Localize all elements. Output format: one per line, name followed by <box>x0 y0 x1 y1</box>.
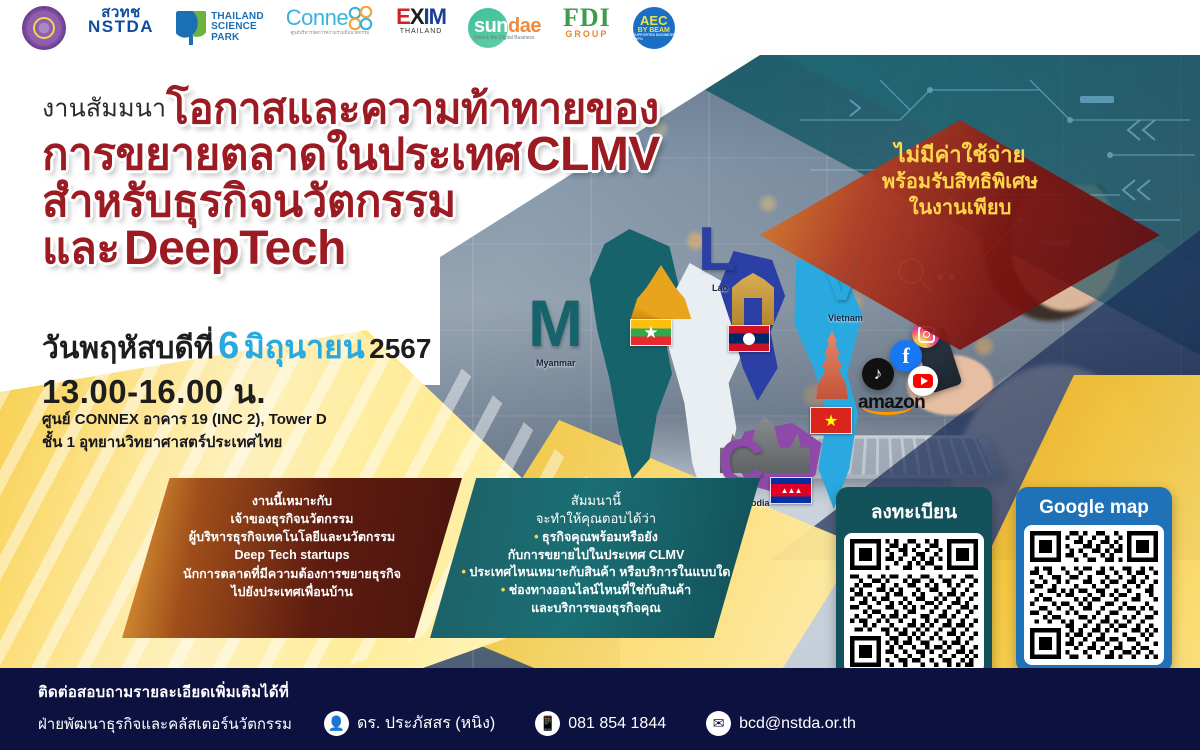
vietnam-flag-icon <box>810 407 852 434</box>
footer-heading: ติดต่อสอบถามรายละเอียดเพิ่มเติมได้ที่ <box>38 680 1200 704</box>
headline-prefix: งานสัมมนา <box>42 95 166 123</box>
amazon-logo: amazon <box>858 392 925 414</box>
exim-e: E <box>396 4 410 29</box>
google-map-qr-card[interactable]: Google map <box>1016 487 1172 673</box>
contact-person: 👤 ดร. ประภัสสร (หนิง) <box>324 711 495 736</box>
country-letter-m: M <box>528 297 583 350</box>
sundae-word1: sun <box>474 15 508 37</box>
exim-x: X <box>410 4 424 29</box>
headline-line2: การขยายตลาดในประเทศ <box>42 130 521 179</box>
country-label-lao: Lao <box>712 283 728 293</box>
date-year: 2567 <box>369 333 431 364</box>
bullet-dot-3: • <box>501 583 505 597</box>
nstda-logo: สวทช NSTDA <box>88 6 154 50</box>
sundae-subtitle: Unlock the Digital Business <box>474 35 541 41</box>
cambodia-flag-icon <box>770 477 812 504</box>
connex-word: Conne <box>286 7 348 29</box>
date-day-number: 6 <box>218 325 239 367</box>
bullet-dot-1: • <box>534 530 538 544</box>
tsp-line3: PARK <box>211 33 264 43</box>
takeaway-1: ธุรกิจคุณพร้อมหรือยัง <box>542 530 658 544</box>
person-icon: 👤 <box>324 711 349 736</box>
target-audience-panel: งานนี้เหมาะกับ เจ้าของธุรกิจนวัตกรรม ผู้… <box>122 492 462 601</box>
headline-deeptech: DeepTech <box>124 222 346 275</box>
nstda-english-text: NSTDA <box>88 19 154 35</box>
myanmar-flag-icon <box>630 319 672 346</box>
footer-department: ฝ่ายพัฒนาธุรกิจและคลัสเตอร์นวัตกรรม <box>38 712 292 736</box>
fdi-word: FDI <box>563 6 611 29</box>
audience-line-1: งานนี้เหมาะกับ <box>122 492 462 510</box>
contact-email[interactable]: ✉ bcd@nstda.or.th <box>706 711 856 736</box>
takeaway-3: ช่องทางออนไลน์ไหนที่ใช่กับสินค้า <box>509 583 691 597</box>
partner-logo-bar: สวทช NSTDA THAILAND SCIENCE PARK Conne <box>0 0 1200 55</box>
venue-line-1: ศูนย์ CONNEX อาคาร 19 (INC 2), Tower D <box>42 408 327 431</box>
google-map-qr-box <box>1024 525 1164 665</box>
audience-line-3: ผู้บริหารธุรกิจเทคโนโลยีและนวัตกรรม <box>122 528 462 546</box>
free-badge-line2: พร้อมรับสิทธิพิเศษ <box>760 169 1160 195</box>
connex-circles-icon <box>348 6 374 30</box>
contact-phone[interactable]: 📱 081 854 1844 <box>535 711 666 736</box>
sundae-word2: dae <box>508 15 541 37</box>
tree-icon <box>176 11 206 45</box>
takeaways-panel: สัมมนานี้ จะทำให้คุณตอบได้ว่า • ธุรกิจคุ… <box>418 492 774 618</box>
aec-subtitle: SUPPORTED BUSINESS EXPO <box>633 34 675 41</box>
connex-logo: Conne ศูนย์บริหารจัดการความร่วมมือนวัตกร… <box>286 6 374 50</box>
takeaway-2: ประเทศไหนเหมาะกับสินค้า หรือบริการในแบบใ… <box>469 565 730 579</box>
headline-line4-thai: และ <box>42 224 119 273</box>
audience-line-6: ไปยังประเทศเพื่อนบ้าน <box>122 583 462 601</box>
google-map-qr-title: Google map <box>1024 497 1164 519</box>
takeaway-3b: และบริการของธุรกิจคุณ <box>531 601 661 615</box>
country-letter-l: L <box>698 225 736 275</box>
aec-by-beam-logo: AEC BY BEAM SUPPORTED BUSINESS EXPO <box>633 6 675 50</box>
free-badge-line1: ไม่มีค่าใช้จ่าย <box>760 140 1160 169</box>
register-qr-box <box>844 533 984 673</box>
fdi-group-logo: FDI GROUP <box>563 6 611 50</box>
headline-line3: สำหรับธุรกิจนวัตกรรม <box>42 177 456 226</box>
envelope-icon: ✉ <box>706 711 731 736</box>
exim-thailand-logo: EXIM THAILAND <box>396 6 446 50</box>
connex-subtitle: ศูนย์บริหารจัดการความร่วมมือนวัตกรรม <box>291 30 370 35</box>
takeaway-1b: กับการขยายไปในประเทศ CLMV <box>508 548 685 562</box>
free-badge-line3: ในงานเพียบ <box>760 195 1160 221</box>
date-day-label: วันพฤหัสบดีที่ <box>42 332 214 365</box>
register-qr-title: ลงทะเบียน <box>844 497 984 527</box>
contact-footer: ติดต่อสอบถามรายละเอียดเพิ่มเติมได้ที่ ฝ่… <box>0 668 1200 750</box>
fdi-subtitle: GROUP <box>565 29 608 39</box>
laos-flag-icon <box>728 325 770 352</box>
google-map-qr-code <box>1030 531 1158 659</box>
aec-word: AEC <box>640 14 667 27</box>
takeaways-intro-2: จะทำให้คุณตอบได้ว่า <box>418 510 774 528</box>
seminar-poster: สวทช NSTDA THAILAND SCIENCE PARK Conne <box>0 0 1200 750</box>
nstda-seal-logo <box>22 6 66 50</box>
phone-icon: 📱 <box>535 711 560 736</box>
free-admission-badge: ไม่มีค่าใช้จ่าย พร้อมรับสิทธิพิเศษ ในงาน… <box>760 140 1160 222</box>
register-qr-code <box>850 539 978 667</box>
audience-line-5: นักการตลาดที่มีความต้องการขยายธุรกิจ <box>122 565 462 583</box>
takeaways-intro-1: สัมมนานี้ <box>418 492 774 510</box>
register-qr-card[interactable]: ลงทะเบียน <box>836 487 992 681</box>
bullet-dot-2: • <box>462 565 466 579</box>
audience-line-4: Deep Tech startups <box>122 546 462 564</box>
venue-line-2: ชั้น 1 อุทยานวิทยาศาสตร์ประเทศไทย <box>42 431 327 454</box>
country-label-myanmar: Myanmar <box>536 358 576 368</box>
event-venue: ศูนย์ CONNEX อาคาร 19 (INC 2), Tower D ช… <box>42 408 327 455</box>
exim-subtitle: THAILAND <box>400 28 443 35</box>
country-label-vietnam: Vietnam <box>828 313 863 323</box>
contact-person-name: ดร. ประภัสสร (หนิง) <box>357 711 495 736</box>
headline-clmv: CLMV <box>526 128 660 181</box>
contact-phone-number: 081 854 1844 <box>568 715 666 733</box>
poster-headline: งานสัมมนาโอกาสและความท้าทายของ การขยายตล… <box>42 88 660 274</box>
exim-im: IM <box>424 4 446 29</box>
sundae-logo: sundae Unlock the Digital Business <box>468 6 541 50</box>
contact-email-address: bcd@nstda.or.th <box>739 715 856 733</box>
thailand-science-park-logo: THAILAND SCIENCE PARK <box>176 6 264 50</box>
headline-line1: โอกาสและความท้าทายของ <box>166 85 658 132</box>
date-month: มิถุนายน <box>244 329 365 365</box>
audience-line-2: เจ้าของธุรกิจนวัตกรรม <box>122 510 462 528</box>
